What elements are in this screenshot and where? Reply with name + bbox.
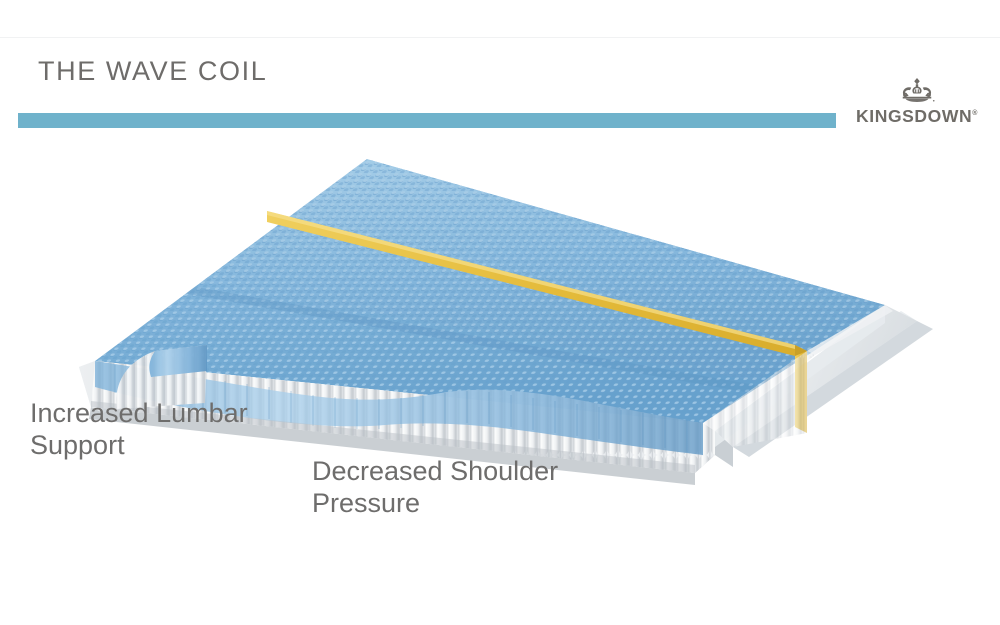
crown-icon [894, 78, 940, 104]
kingsdown-logo: KINGSDOWN® [853, 78, 981, 132]
slide-canvas: THE WAVE COIL KINGSDOWN® [0, 0, 1000, 625]
header-accent-bar [18, 113, 836, 128]
trademark-symbol: ® [972, 110, 978, 117]
brand-name: KINGSDOWN [856, 106, 972, 126]
callout-decreased-shoulder-pressure: Decreased Shoulder Pressure [312, 456, 558, 520]
slide-footer: Style + SUBSTANCE 5 [0, 546, 1000, 592]
top-hairline [0, 37, 1000, 38]
page-title: THE WAVE COIL [38, 56, 267, 87]
callout-increased-lumbar-support: Increased Lumbar Support [30, 398, 248, 462]
kingsdown-wordmark: KINGSDOWN® [856, 106, 978, 127]
